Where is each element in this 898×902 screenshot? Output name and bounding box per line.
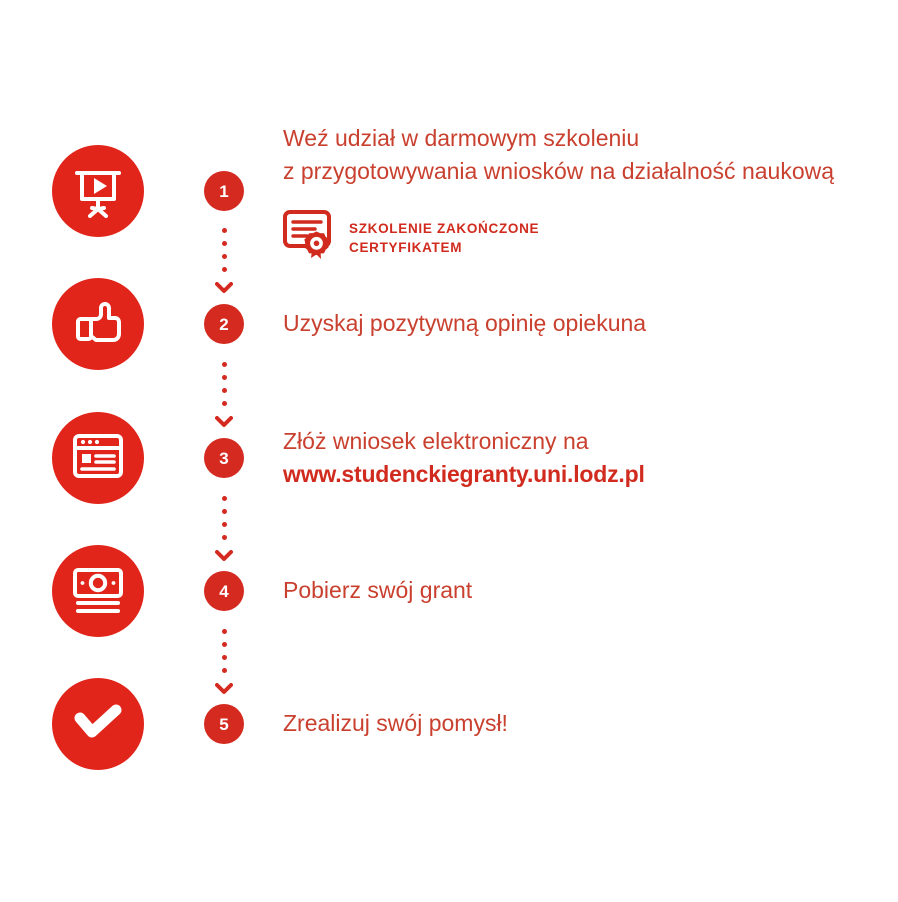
chevron-down-icon — [215, 549, 233, 567]
connector-1-2 — [204, 228, 244, 299]
checkmark-icon — [72, 704, 124, 744]
step-text-5: Zrealizuj swój pomysł! — [283, 707, 508, 740]
step-text-line: Pobierz swój grant — [283, 574, 472, 607]
connector-dot — [222, 254, 227, 259]
step-icon-browser — [52, 412, 144, 504]
connector-dot — [222, 655, 227, 660]
presentation-play-icon — [71, 164, 125, 218]
chevron-down-icon — [215, 281, 233, 299]
step-text-line: Złóż wniosek elektroniczny na — [283, 425, 645, 458]
connector-dot — [222, 375, 227, 380]
certificate-badge-text: SZKOLENIE ZAKOŃCZONE CERTYFIKATEM — [349, 219, 539, 257]
step-text-3: Złóż wniosek elektroniczny na www.studen… — [283, 425, 645, 491]
connector-4-5 — [204, 629, 244, 700]
grant-portal-url[interactable]: www.studenckiegranty.uni.lodz.pl — [283, 458, 645, 491]
step-icon-check — [52, 678, 144, 770]
step-text-line: Uzyskaj pozytywną opinię opiekuna — [283, 307, 646, 340]
certificate-icon — [281, 206, 337, 269]
step-icon-money — [52, 545, 144, 637]
connector-dot — [222, 668, 227, 673]
step-icon-presentation — [52, 145, 144, 237]
step-text-1: Weź udział w darmowym szkoleniu z przygo… — [283, 122, 834, 188]
step-text-2: Uzyskaj pozytywną opinię opiekuna — [283, 307, 646, 340]
step-icon-thumbs-up — [52, 278, 144, 370]
browser-window-icon — [71, 432, 125, 484]
step-number-4: 4 — [204, 571, 244, 611]
connector-dot — [222, 362, 227, 367]
connector-dot — [222, 401, 227, 406]
connector-dot — [222, 509, 227, 514]
connector-dot — [222, 535, 227, 540]
connector-dot — [222, 228, 227, 233]
connector-dot — [222, 496, 227, 501]
step-number-2: 2 — [204, 304, 244, 344]
money-banknote-icon — [71, 565, 125, 617]
step-number-5: 5 — [204, 704, 244, 744]
step-text-4: Pobierz swój grant — [283, 574, 472, 607]
certificate-badge-line: SZKOLENIE ZAKOŃCZONE — [349, 219, 539, 238]
step-text-line: Weź udział w darmowym szkoleniu — [283, 122, 834, 155]
certificate-badge-line: CERTYFIKATEM — [349, 238, 539, 257]
connector-3-4 — [204, 496, 244, 567]
connector-dot — [222, 522, 227, 527]
connector-2-3 — [204, 362, 244, 433]
certificate-badge: SZKOLENIE ZAKOŃCZONE CERTYFIKATEM — [281, 206, 539, 269]
step-text-line: z przygotowywania wniosków na działalnoś… — [283, 155, 834, 188]
connector-dot — [222, 241, 227, 246]
step-number-3: 3 — [204, 438, 244, 478]
chevron-down-icon — [215, 682, 233, 700]
steps-infographic: 1 Weź udział w darmowym szkoleniu z przy… — [0, 0, 898, 902]
connector-dot — [222, 629, 227, 634]
thumbs-up-icon — [72, 298, 124, 350]
step-text-line: Zrealizuj swój pomysł! — [283, 707, 508, 740]
chevron-down-icon — [215, 415, 233, 433]
connector-dot — [222, 642, 227, 647]
connector-dot — [222, 388, 227, 393]
connector-dot — [222, 267, 227, 272]
step-number-1: 1 — [204, 171, 244, 211]
